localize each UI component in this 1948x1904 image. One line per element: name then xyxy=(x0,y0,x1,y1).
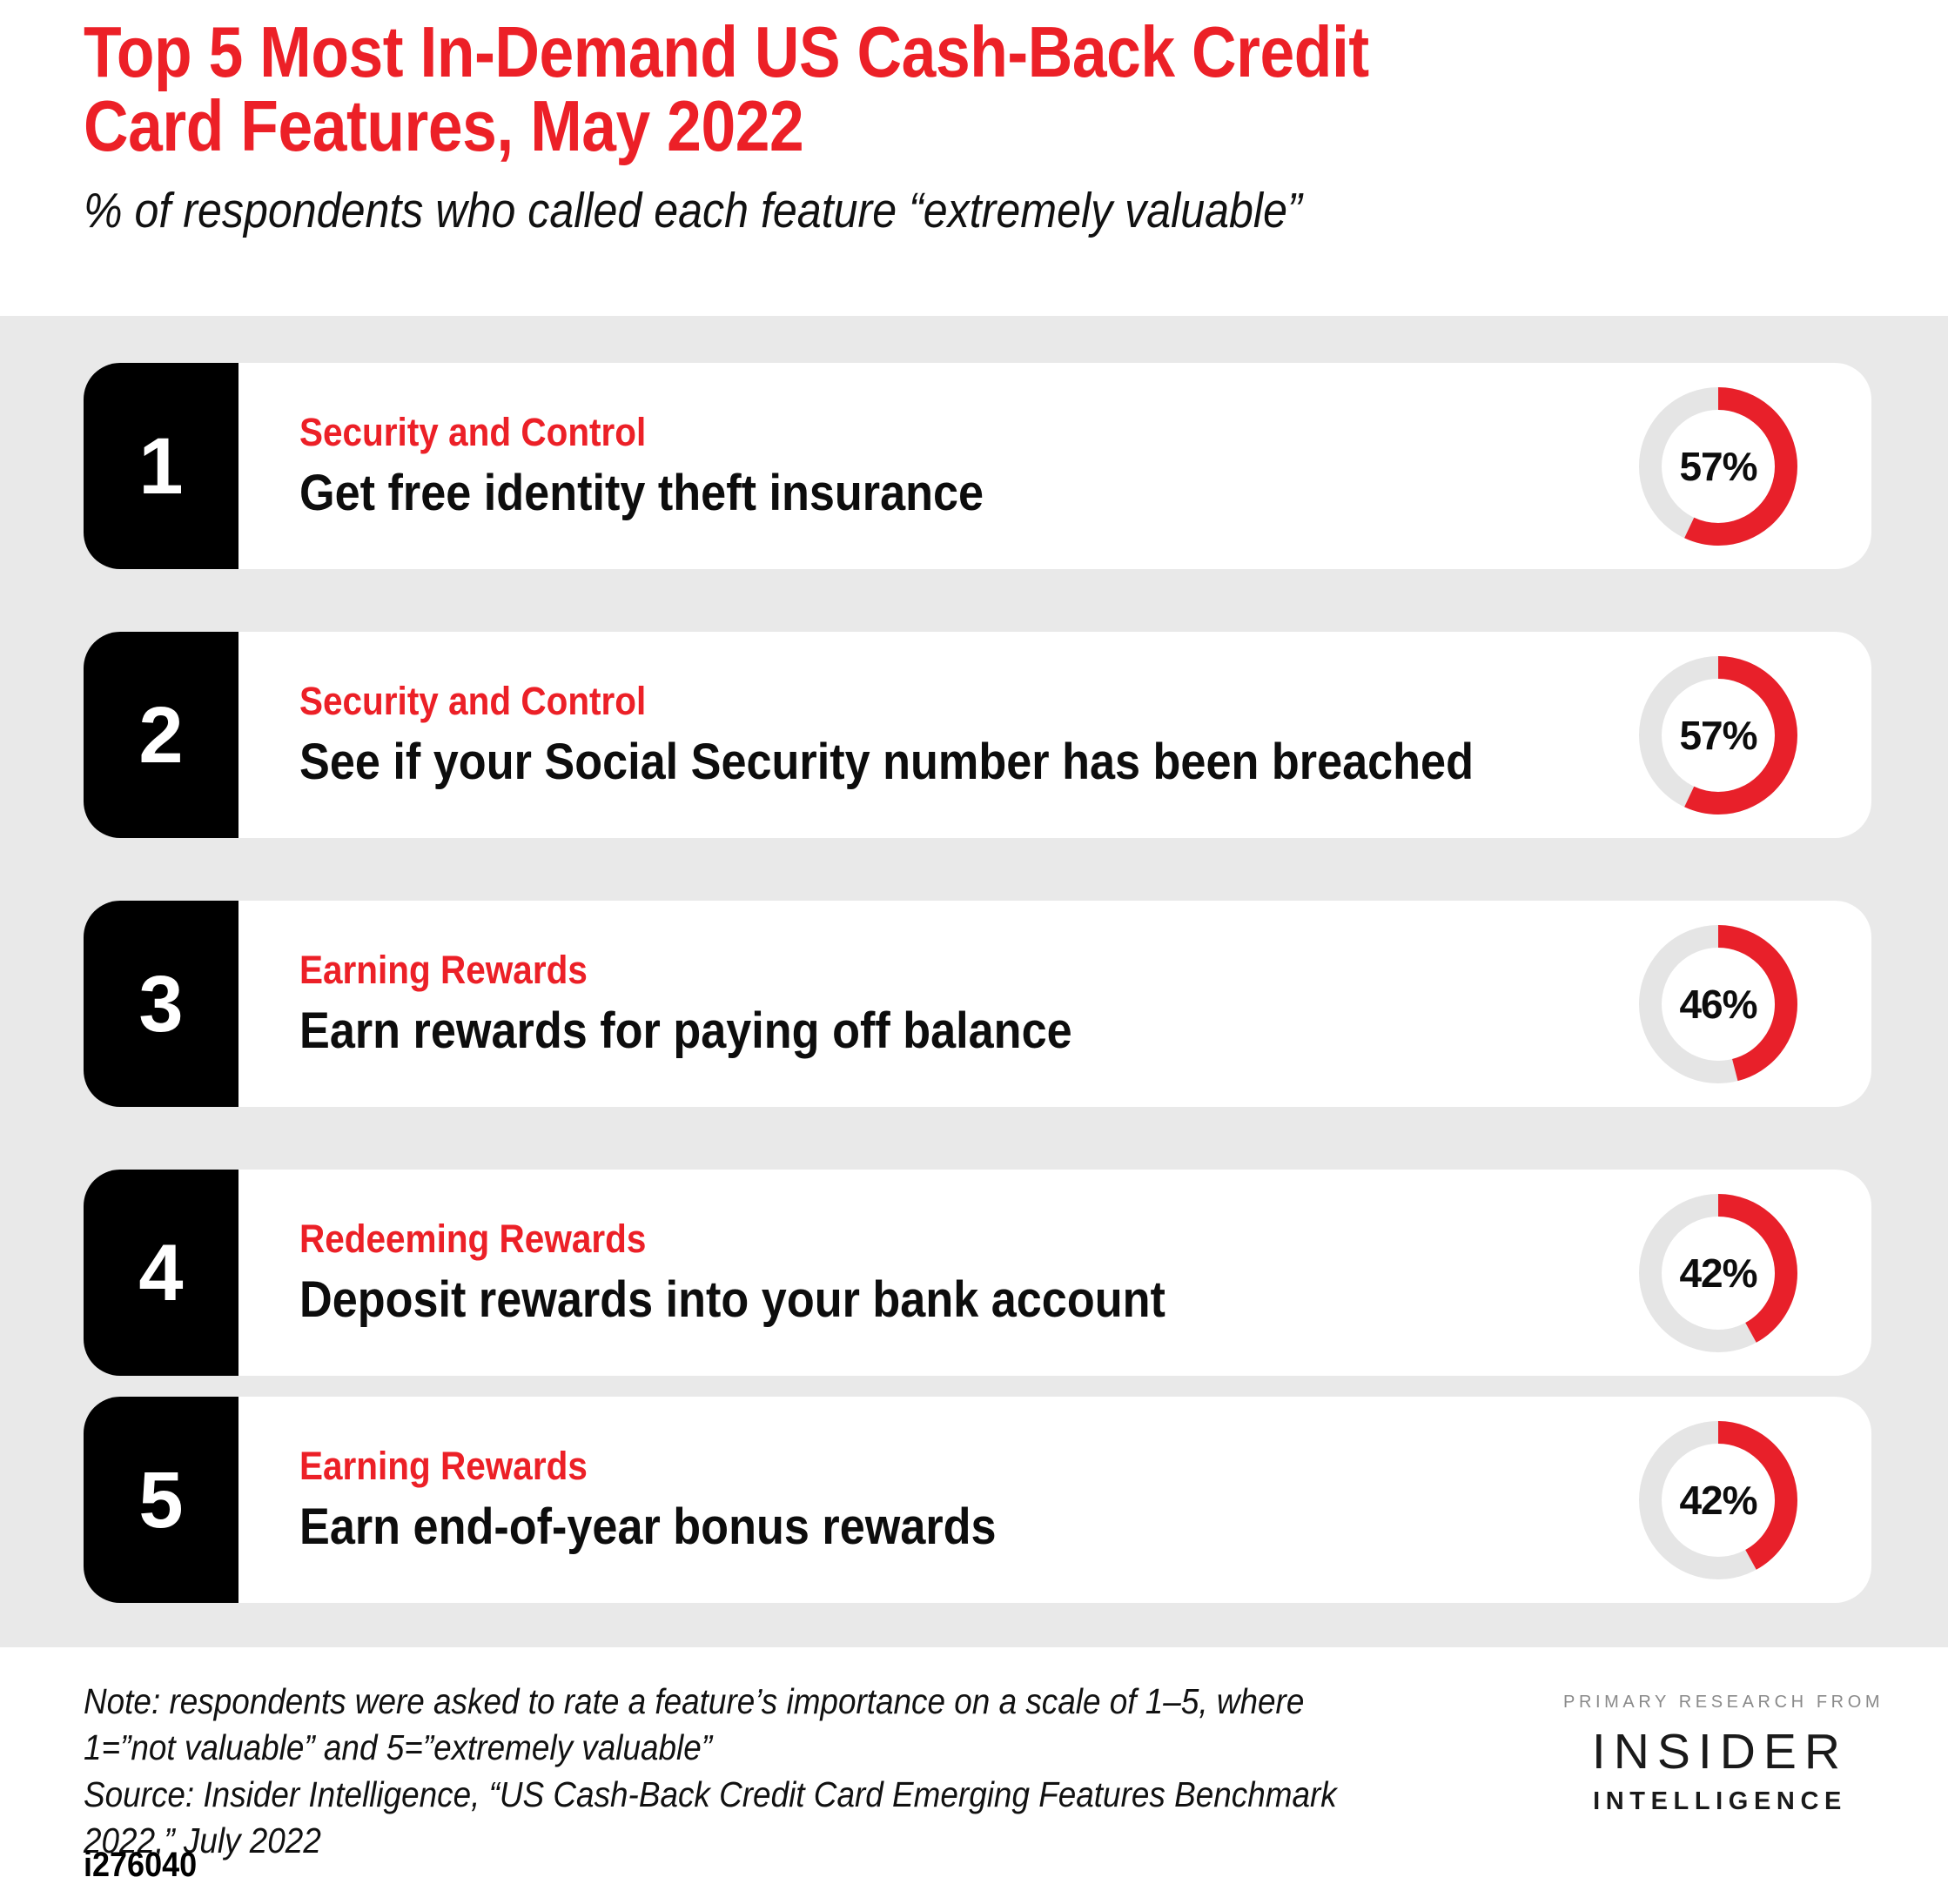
rank-number: 3 xyxy=(138,964,183,1044)
donut-chart: 57% xyxy=(1639,387,1797,546)
feature-name: Earn end-of-year bonus rewards xyxy=(299,1499,997,1555)
rank-number: 1 xyxy=(138,426,183,506)
logo-tagline: PRIMARY RESEARCH FROM xyxy=(1563,1693,1877,1713)
feature-text-block: Security and Control Get free identity t… xyxy=(299,363,1059,569)
ranked-feature-list: 1 Security and Control Get free identity… xyxy=(0,316,1948,1647)
feature-name: Get free identity theft insurance xyxy=(299,466,984,521)
feature-name: Earn rewards for paying off balance xyxy=(299,1003,1072,1059)
logo-subname: INTELLIGENCE xyxy=(1563,1787,1877,1816)
feature-category: Security and Control xyxy=(299,411,984,454)
rank-number: 5 xyxy=(138,1460,183,1540)
rank-badge: 4 xyxy=(84,1170,238,1376)
feature-text-block: Security and Control See if your Social … xyxy=(299,632,1604,838)
footer: Note: respondents were asked to rate a f… xyxy=(0,1647,1948,1904)
list-item[interactable]: 5 Earning Rewards Earn end-of-year bonus… xyxy=(84,1397,1871,1603)
feature-name: See if your Social Security number has b… xyxy=(299,734,1474,790)
list-item[interactable]: 1 Security and Control Get free identity… xyxy=(84,363,1871,569)
donut-value-label: 46% xyxy=(1639,925,1797,1083)
feature-category: Security and Control xyxy=(299,680,1474,723)
insider-intelligence-logo: PRIMARY RESEARCH FROM INSIDER INTELLIGEN… xyxy=(1563,1693,1877,1816)
feature-category: Earning Rewards xyxy=(299,1445,997,1488)
donut-value-label: 57% xyxy=(1639,656,1797,815)
rank-badge: 3 xyxy=(84,901,238,1107)
footnote: Note: respondents were asked to rate a f… xyxy=(84,1679,1400,1864)
header: Top 5 Most In-Demand US Cash-Back Credit… xyxy=(0,0,1948,316)
rank-number: 4 xyxy=(138,1233,183,1313)
feature-text-block: Earning Rewards Earn end-of-year bonus r… xyxy=(299,1397,1074,1603)
page-subtitle: % of respondents who called each feature… xyxy=(84,184,1650,238)
rank-badge: 2 xyxy=(84,632,238,838)
infographic: Top 5 Most In-Demand US Cash-Back Credit… xyxy=(0,0,1948,1904)
donut-chart: 42% xyxy=(1639,1421,1797,1579)
logo-name: INSIDER xyxy=(1563,1723,1877,1780)
donut-chart: 46% xyxy=(1639,925,1797,1083)
donut-chart: 57% xyxy=(1639,656,1797,815)
chart-id: i276040 xyxy=(84,1846,197,1885)
donut-value-label: 42% xyxy=(1639,1194,1797,1352)
rank-badge: 5 xyxy=(84,1397,238,1603)
feature-text-block: Redeeming Rewards Deposit rewards into y… xyxy=(299,1170,1261,1376)
donut-chart: 42% xyxy=(1639,1194,1797,1352)
feature-category: Redeeming Rewards xyxy=(299,1217,1165,1261)
donut-value-label: 42% xyxy=(1639,1421,1797,1579)
feature-category: Earning Rewards xyxy=(299,949,1072,992)
feature-text-block: Earning Rewards Earn rewards for paying … xyxy=(299,901,1158,1107)
page-title: Top 5 Most In-Demand US Cash-Back Credit… xyxy=(84,16,1615,163)
rank-badge: 1 xyxy=(84,363,238,569)
list-item[interactable]: 4 Redeeming Rewards Deposit rewards into… xyxy=(84,1170,1871,1376)
list-item[interactable]: 2 Security and Control See if your Socia… xyxy=(84,632,1871,838)
rank-number: 2 xyxy=(138,695,183,775)
feature-name: Deposit rewards into your bank account xyxy=(299,1272,1165,1328)
list-item[interactable]: 3 Earning Rewards Earn rewards for payin… xyxy=(84,901,1871,1107)
donut-value-label: 57% xyxy=(1639,387,1797,546)
